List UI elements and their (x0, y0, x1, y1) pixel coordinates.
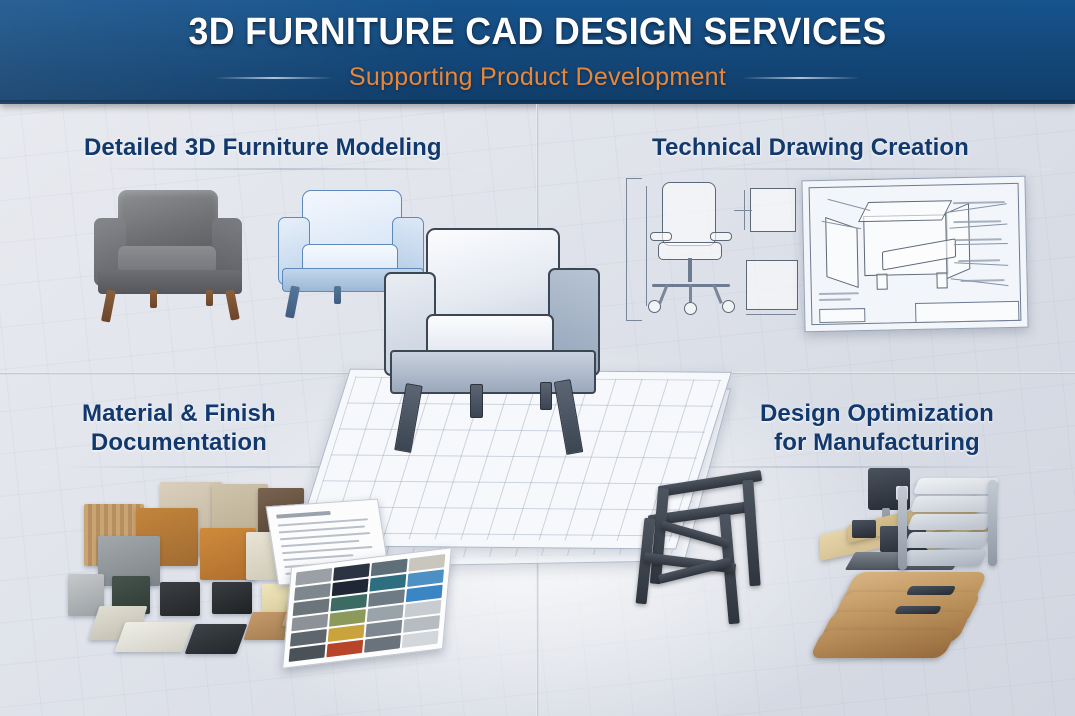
quadrant-rule-top-right (652, 168, 1052, 170)
page-title: 3D FURNITURE CAD DESIGN SERVICES (32, 11, 1043, 54)
quadrant-label-material-finish-documentation: Material & Finish Documentation (82, 399, 276, 458)
quadrant-rule-top-left (84, 168, 484, 170)
chair-frame-structure (640, 470, 810, 630)
color-chip (326, 640, 363, 658)
hero-armchair-wireframe (382, 228, 602, 460)
title-block (915, 301, 1019, 323)
revision-block (819, 308, 865, 323)
office-chair-technical-drawing (618, 172, 808, 330)
cabinet-isometric-blueprint (801, 176, 1028, 333)
header-banner: 3D FURNITURE CAD DESIGN SERVICES Support… (0, 0, 1075, 104)
color-chip (364, 635, 401, 653)
quadrant-label-technical-drawing-creation: Technical Drawing Creation (652, 133, 969, 162)
flat-pack-wooden-panels (812, 572, 1002, 664)
subtitle-rule-right (742, 77, 860, 79)
subtitle-rule-left (215, 77, 333, 79)
quadrant-label-design-optimization-for-manufacturing: Design Optimization for Manufacturing (760, 399, 994, 458)
infographic-poster: 3D FURNITURE CAD DESIGN SERVICES Support… (0, 0, 1075, 716)
subtitle-row: Supporting Product Development (0, 63, 1075, 92)
quadrant-label-detailed-3d-furniture-modeling: Detailed 3D Furniture Modeling (84, 133, 442, 162)
armchair-photoreal-grey (88, 190, 253, 320)
color-chip (289, 644, 326, 662)
color-swatch-card (282, 547, 452, 669)
color-chip (402, 630, 439, 648)
page-subtitle: Supporting Product Development (349, 63, 726, 92)
